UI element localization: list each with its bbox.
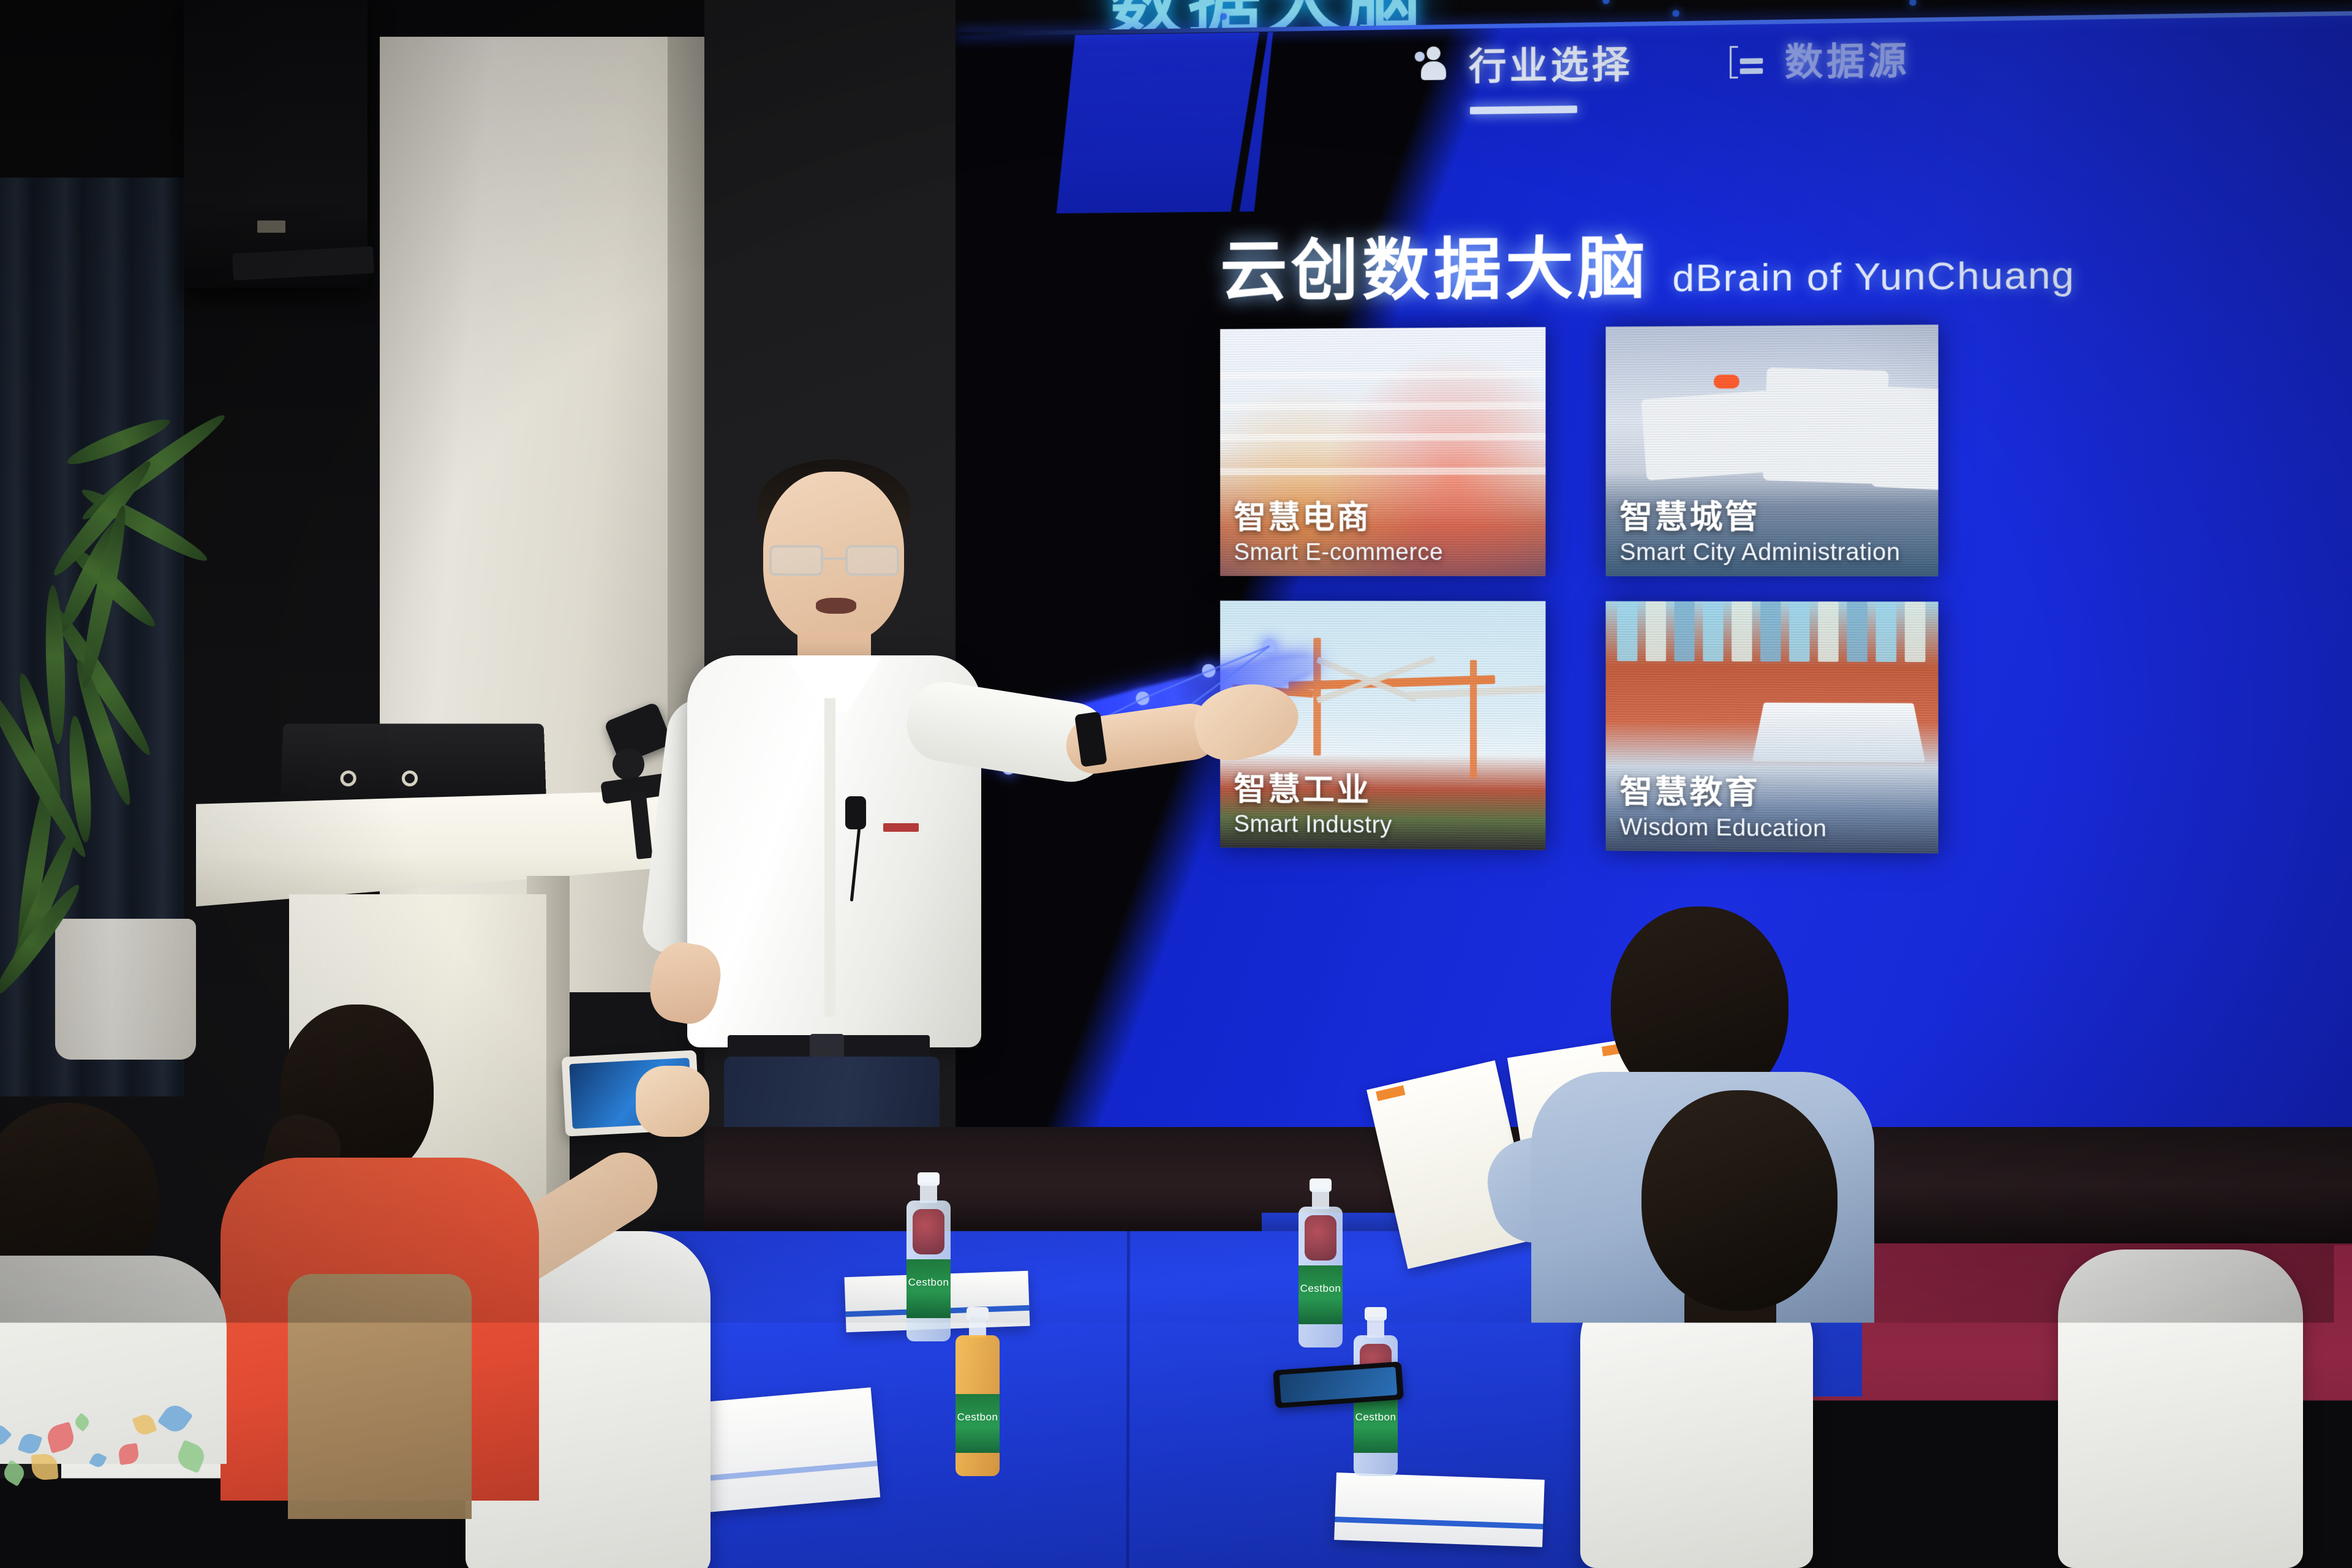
card-title-cn: 智慧电商	[1234, 500, 1443, 536]
brand-title-cn: 云创数据大脑	[1220, 214, 1649, 314]
fabric-motif	[157, 1401, 193, 1436]
fabric-floral-motif	[1873, 1430, 1894, 1449]
fabric-motif	[1, 1460, 28, 1487]
bottle-brand-label: Cestbon	[1298, 1283, 1343, 1295]
fabric-floral-motif	[1795, 1556, 1812, 1567]
people-icon	[1414, 45, 1453, 84]
slide-brand: 云创数据大脑 dBrain of YunChuang	[1220, 210, 2075, 314]
nav-item-industry-select-label: 行业选择	[1469, 34, 1633, 91]
camera-ball-joint	[612, 748, 644, 780]
list-icon	[1728, 40, 1768, 80]
fabric-floral-motif	[1614, 1491, 1648, 1525]
fabric-floral-motif	[1744, 1401, 1764, 1422]
fabric-floral-motif	[1815, 1534, 1837, 1556]
fabric-motif	[45, 1422, 77, 1453]
card-title-en: Smart E-commerce	[1234, 540, 1443, 567]
particle-dot	[1909, 0, 1917, 6]
fabric-floral-motif	[1910, 1479, 1932, 1502]
slide-nav-bar: 行业选择 数据源	[1414, 30, 1910, 112]
fabric-motif	[132, 1412, 157, 1437]
bottle-brand-label: Cestbon	[907, 1276, 951, 1289]
card-title-cn: 智慧教育	[1619, 774, 1826, 812]
fabric-motif	[73, 1413, 92, 1432]
audience-member-orange	[245, 1005, 735, 1568]
nav-item-industry-select[interactable]: 行业选择	[1414, 34, 1633, 113]
shirt-pocket-tag	[883, 823, 919, 832]
fabric-floral-motif	[1586, 1442, 1602, 1472]
brand-title-en: dBrain of YunChuang	[1672, 253, 2075, 301]
nav-item-data-source[interactable]: 数据源	[1728, 30, 1910, 108]
fabric-floral-motif	[1860, 1445, 1881, 1467]
card-title-en: Smart City Administration	[1619, 539, 1900, 566]
audience-jacket	[288, 1274, 472, 1519]
chair	[2058, 1249, 2303, 1568]
audience-member-foreground-left	[0, 1102, 269, 1568]
fabric-motif	[31, 1453, 59, 1481]
lapel-microphone-icon	[845, 796, 866, 829]
fabric-floral-motif	[1798, 1434, 1812, 1460]
industry-card[interactable]: 智慧城管Smart City Administration	[1606, 325, 1939, 576]
eyeglasses-icon	[769, 545, 899, 577]
fabric-floral-motif	[1574, 1372, 1583, 1388]
fabric-floral-motif	[1765, 1499, 1785, 1520]
booklet-right	[1334, 1472, 1545, 1547]
bottle-brand-label: Cestbon	[1354, 1411, 1398, 1423]
fabric-floral-motif	[1599, 1512, 1619, 1538]
card-title-cn: 智慧工业	[1234, 772, 1392, 809]
juice-bottle: Cestbon	[956, 1317, 1000, 1476]
bottle-brand-label: Cestbon	[956, 1411, 1000, 1423]
particle-dot	[1602, 0, 1609, 4]
fabric-floral-motif	[1830, 1393, 1853, 1415]
card-caption: 智慧城管Smart City Administration	[1619, 499, 1900, 567]
card-caption: 智慧教育Wisdom Education	[1619, 774, 1826, 843]
card-title-cn: 智慧城管	[1619, 499, 1900, 536]
presentation-photo: 数据大脑 行业选择 数据源 云创数据	[0, 0, 2352, 1568]
industry-card-grid: 智慧电商Smart E-commerce智慧城管Smart City Admin…	[1220, 322, 2320, 857]
industry-card[interactable]: 智慧教育Wisdom Education	[1606, 601, 1939, 853]
fabric-motif	[18, 1431, 43, 1457]
speaker-mount-arm	[232, 246, 374, 281]
fabric-floral-motif	[1714, 1557, 1736, 1568]
fabric-floral-motif	[1890, 1501, 1908, 1513]
plant-leaf	[43, 585, 67, 745]
nav-active-indicator	[1470, 105, 1577, 114]
fabric-motif	[0, 1421, 12, 1449]
audience-member-floral	[1568, 1090, 1997, 1568]
plant-pot	[55, 919, 196, 1060]
presenter-shirt-placket	[824, 698, 835, 1017]
nav-item-data-source-label: 数据源	[1785, 30, 1910, 86]
fabric-floral-motif	[1650, 1455, 1667, 1477]
industry-card[interactable]: 智慧电商Smart E-commerce	[1220, 327, 1545, 576]
fabric-floral-motif	[1684, 1389, 1694, 1418]
fabric-floral-motif	[1668, 1526, 1679, 1543]
card-caption: 智慧电商Smart E-commerce	[1234, 500, 1443, 567]
water-bottle: Cestbon	[1298, 1188, 1343, 1347]
ceiling-speaker	[184, 0, 367, 288]
fabric-floral-motif	[1686, 1507, 1706, 1528]
audience-head	[1642, 1090, 1838, 1311]
fabric-floral-motif	[1701, 1487, 1719, 1513]
audience-hand	[636, 1066, 709, 1137]
particle-dot	[1220, 13, 1227, 20]
audience-torso	[0, 1256, 227, 1464]
card-caption: 智慧工业Smart Industry	[1234, 772, 1392, 839]
fabric-motif	[174, 1439, 208, 1473]
water-bottle: Cestbon	[907, 1182, 951, 1341]
fabric-floral-motif	[1744, 1518, 1778, 1552]
fabric-floral-motif	[1666, 1436, 1695, 1462]
fabric-floral-motif	[1761, 1381, 1792, 1409]
presenter-mouth	[816, 598, 856, 614]
fabric-floral-motif	[1634, 1472, 1656, 1493]
fabric-floral-motif	[1840, 1464, 1872, 1499]
speaker-brand-logo	[257, 221, 285, 233]
card-title-en: Smart Industry	[1234, 811, 1392, 839]
fabric-floral-motif	[1842, 1376, 1867, 1399]
card-title-en: Wisdom Education	[1619, 814, 1826, 843]
particle-dot	[1672, 10, 1679, 17]
fabric-motif	[89, 1451, 107, 1469]
fabric-motif	[118, 1443, 140, 1465]
audience-torso	[1556, 1347, 1948, 1568]
